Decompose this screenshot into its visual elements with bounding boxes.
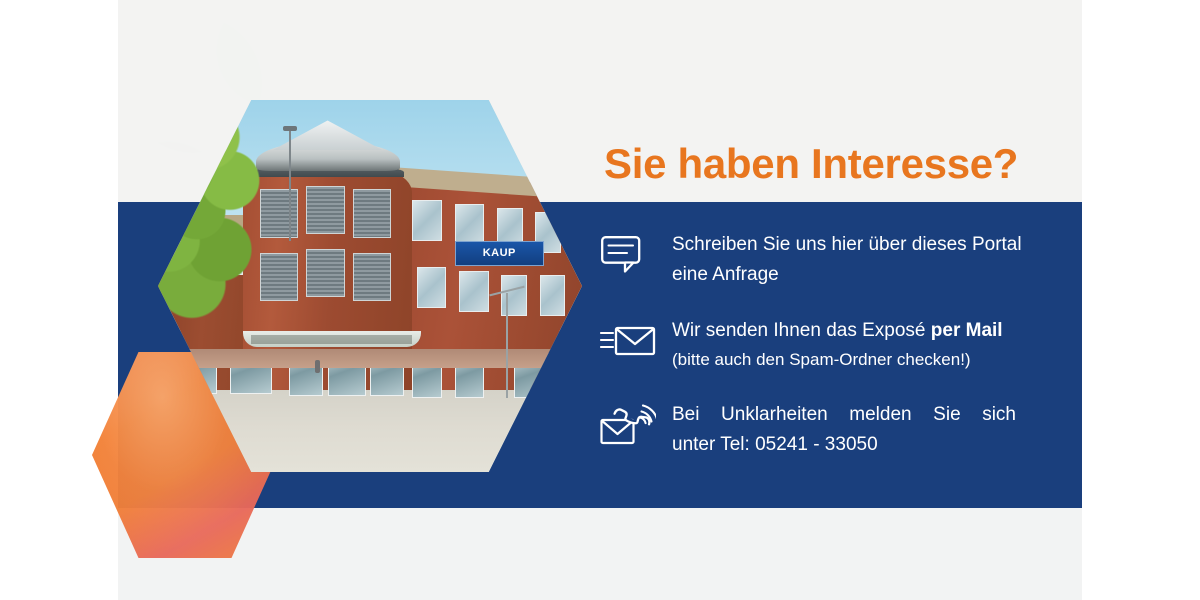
list-item-line-1: Wir senden Ihnen das Exposé per Mail: [672, 316, 1070, 346]
list-item-line-2: (bitte auch den Spam-Ordner checken!): [672, 346, 1070, 374]
envelope-send-icon: [600, 314, 672, 366]
photo-sidewalk: [158, 349, 582, 368]
list-item-line-1: Bei Unklarheiten melden Sie sich: [672, 400, 1016, 430]
photo-window: [455, 204, 485, 245]
photo-window: [540, 275, 565, 316]
list-item-line-1-normal: Wir senden Ihnen das Exposé: [672, 320, 931, 341]
photo-pedestrian: [315, 360, 320, 373]
info-list: Schreiben Sie uns hier über dieses Porta…: [600, 228, 1070, 460]
list-item-text: Wir senden Ihnen das Exposé per Mail (bi…: [672, 314, 1070, 374]
list-item: Schreiben Sie uns hier über dieses Porta…: [600, 228, 1070, 290]
speech-bubble-icon: [600, 228, 672, 280]
photo-sign-pole: [506, 293, 508, 397]
photo-shutter: [353, 253, 391, 301]
list-item: Wir senden Ihnen das Exposé per Mail (bi…: [600, 314, 1070, 374]
photo-street-lamp-head: [283, 126, 297, 131]
photo-canopy-lettering: [251, 335, 412, 344]
list-item-line-2: unter Tel: 05241 - 33050: [672, 430, 1070, 460]
slide-root: KAUP Sie haben Interesse?: [0, 0, 1200, 600]
photo-company-sign-text: KAUP: [483, 248, 516, 259]
photo-company-sign: KAUP: [455, 241, 544, 265]
list-item: Bei Unklarheiten melden Sie sich unter T…: [600, 398, 1070, 460]
phone-mail-icon: [600, 398, 672, 450]
photo-window: [459, 271, 489, 312]
list-item-text: Bei Unklarheiten melden Sie sich unter T…: [672, 398, 1070, 460]
bottom-strip: [118, 508, 1082, 600]
photo-street-lamp: [289, 130, 291, 242]
list-item-text: Schreiben Sie uns hier über dieses Porta…: [672, 228, 1070, 290]
photo-window: [417, 267, 447, 308]
list-item-line-2: eine Anfrage: [672, 260, 1070, 290]
page-title: Sie haben Interesse?: [604, 141, 1018, 187]
photo-shutter: [306, 186, 344, 234]
photo-shutter: [353, 189, 391, 237]
list-item-line-1: Schreiben Sie uns hier über dieses Porta…: [672, 230, 1070, 260]
photo-window: [412, 200, 442, 241]
list-item-line-1-bold: per Mail: [931, 320, 1003, 341]
photo-shutter: [306, 249, 344, 297]
